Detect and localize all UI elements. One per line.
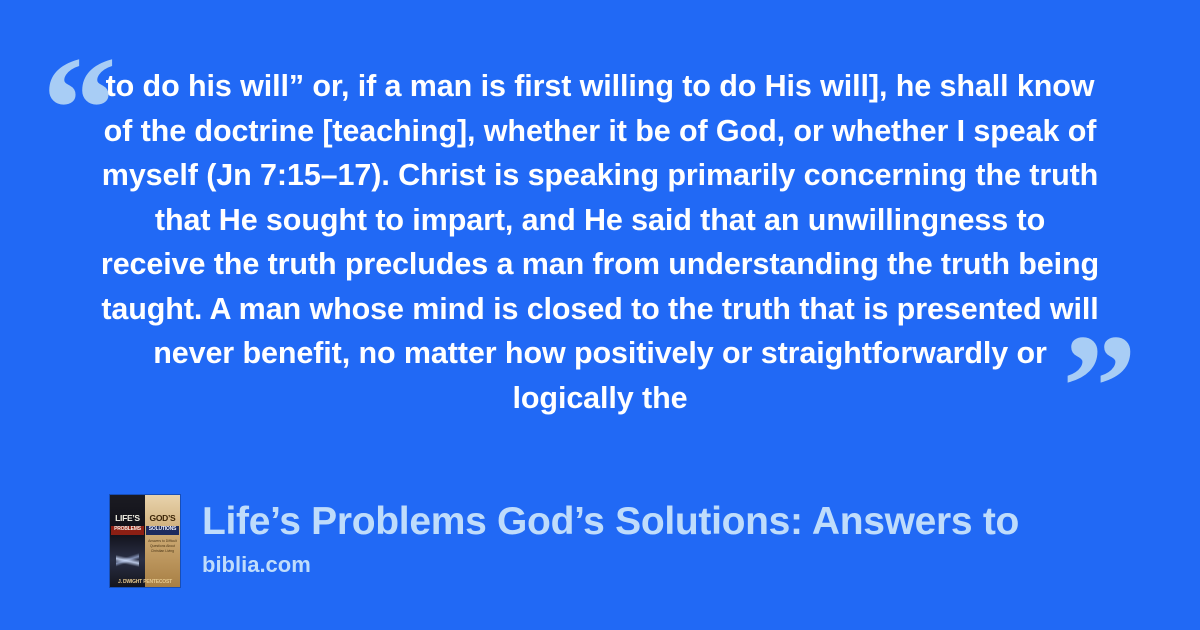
book-cover-author: J. DWIGHT PENTECOST bbox=[110, 579, 180, 585]
book-cover-blurb: Answers to Difficult Questions About Chr… bbox=[148, 539, 177, 554]
quote-card: “ to do his will” or, if a man is first … bbox=[0, 0, 1200, 630]
quote-text: to do his will” or, if a man is first wi… bbox=[100, 64, 1100, 420]
quote-block: “ to do his will” or, if a man is first … bbox=[0, 42, 1200, 422]
book-cover-subtitle-left: PROBLEMS bbox=[111, 526, 143, 535]
close-quote-icon: ” bbox=[1062, 312, 1137, 462]
source-url[interactable]: biblia.com bbox=[202, 551, 1019, 579]
footer-text-group: Life’s Problems God’s Solutions: Answers… bbox=[202, 495, 1019, 579]
book-cover-thumbnail[interactable]: LIFE’S GOD’S PROBLEMS SOLUTIONS Answers … bbox=[110, 495, 180, 587]
book-title[interactable]: Life’s Problems God’s Solutions: Answers… bbox=[202, 499, 1019, 545]
book-cover-title-right: GOD’S bbox=[146, 513, 178, 525]
footer: LIFE’S GOD’S PROBLEMS SOLUTIONS Answers … bbox=[110, 495, 1019, 587]
lightning-bolt-icon bbox=[116, 539, 140, 581]
book-cover-subtitle-right: SOLUTIONS bbox=[146, 526, 178, 535]
book-cover-title-left: LIFE’S bbox=[111, 513, 143, 525]
